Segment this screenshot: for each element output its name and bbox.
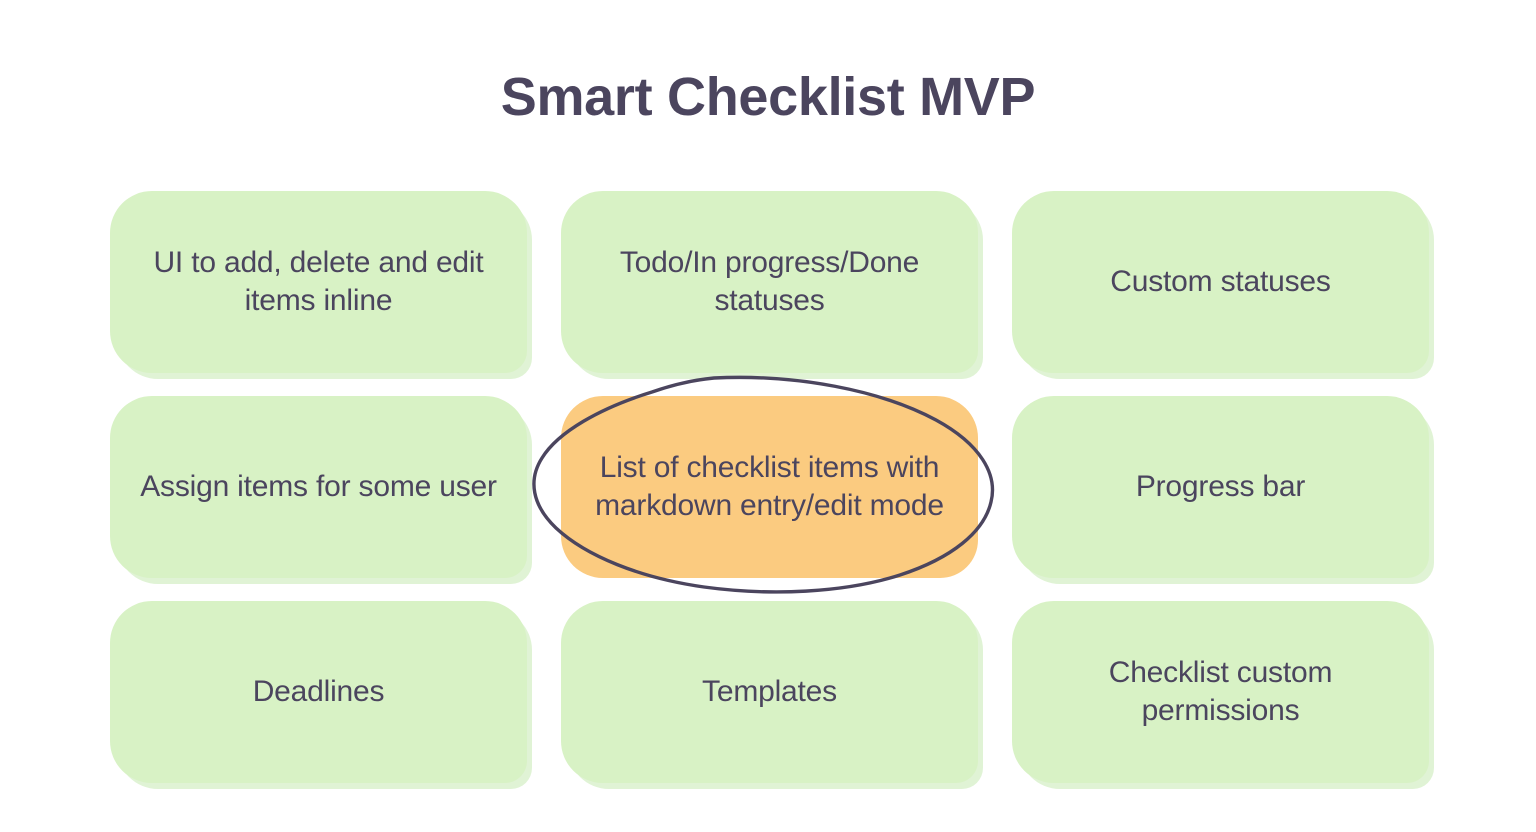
card-label: List of checklist items with markdown en… — [587, 449, 952, 526]
card-templates[interactable]: Templates — [561, 601, 978, 783]
card-ui-to-add-delete-edit[interactable]: UI to add, delete and edit items inline — [110, 191, 527, 373]
card-label: Deadlines — [253, 673, 385, 711]
card-checklist-custom-permissions[interactable]: Checklist custom permissions — [1012, 601, 1429, 783]
card-label: Todo/In progress/Done statuses — [587, 244, 952, 321]
card-todo-in-progress-done[interactable]: Todo/In progress/Done statuses — [561, 191, 978, 373]
card-label: Assign items for some user — [140, 468, 497, 506]
page-title: Smart Checklist MVP — [0, 66, 1536, 128]
board-canvas: Smart Checklist MVP UI to add, delete an… — [0, 0, 1536, 832]
card-label: Progress bar — [1136, 468, 1305, 506]
card-custom-statuses[interactable]: Custom statuses — [1012, 191, 1429, 373]
card-label: UI to add, delete and edit items inline — [136, 244, 501, 321]
card-grid: UI to add, delete and edit items inline … — [110, 191, 1428, 783]
card-deadlines[interactable]: Deadlines — [110, 601, 527, 783]
card-progress-bar[interactable]: Progress bar — [1012, 396, 1429, 578]
card-list-of-checklist-items[interactable]: List of checklist items with markdown en… — [561, 396, 978, 578]
card-label: Templates — [702, 673, 837, 711]
card-label: Custom statuses — [1110, 263, 1330, 301]
card-label: Checklist custom permissions — [1038, 654, 1403, 731]
card-assign-items[interactable]: Assign items for some user — [110, 396, 527, 578]
